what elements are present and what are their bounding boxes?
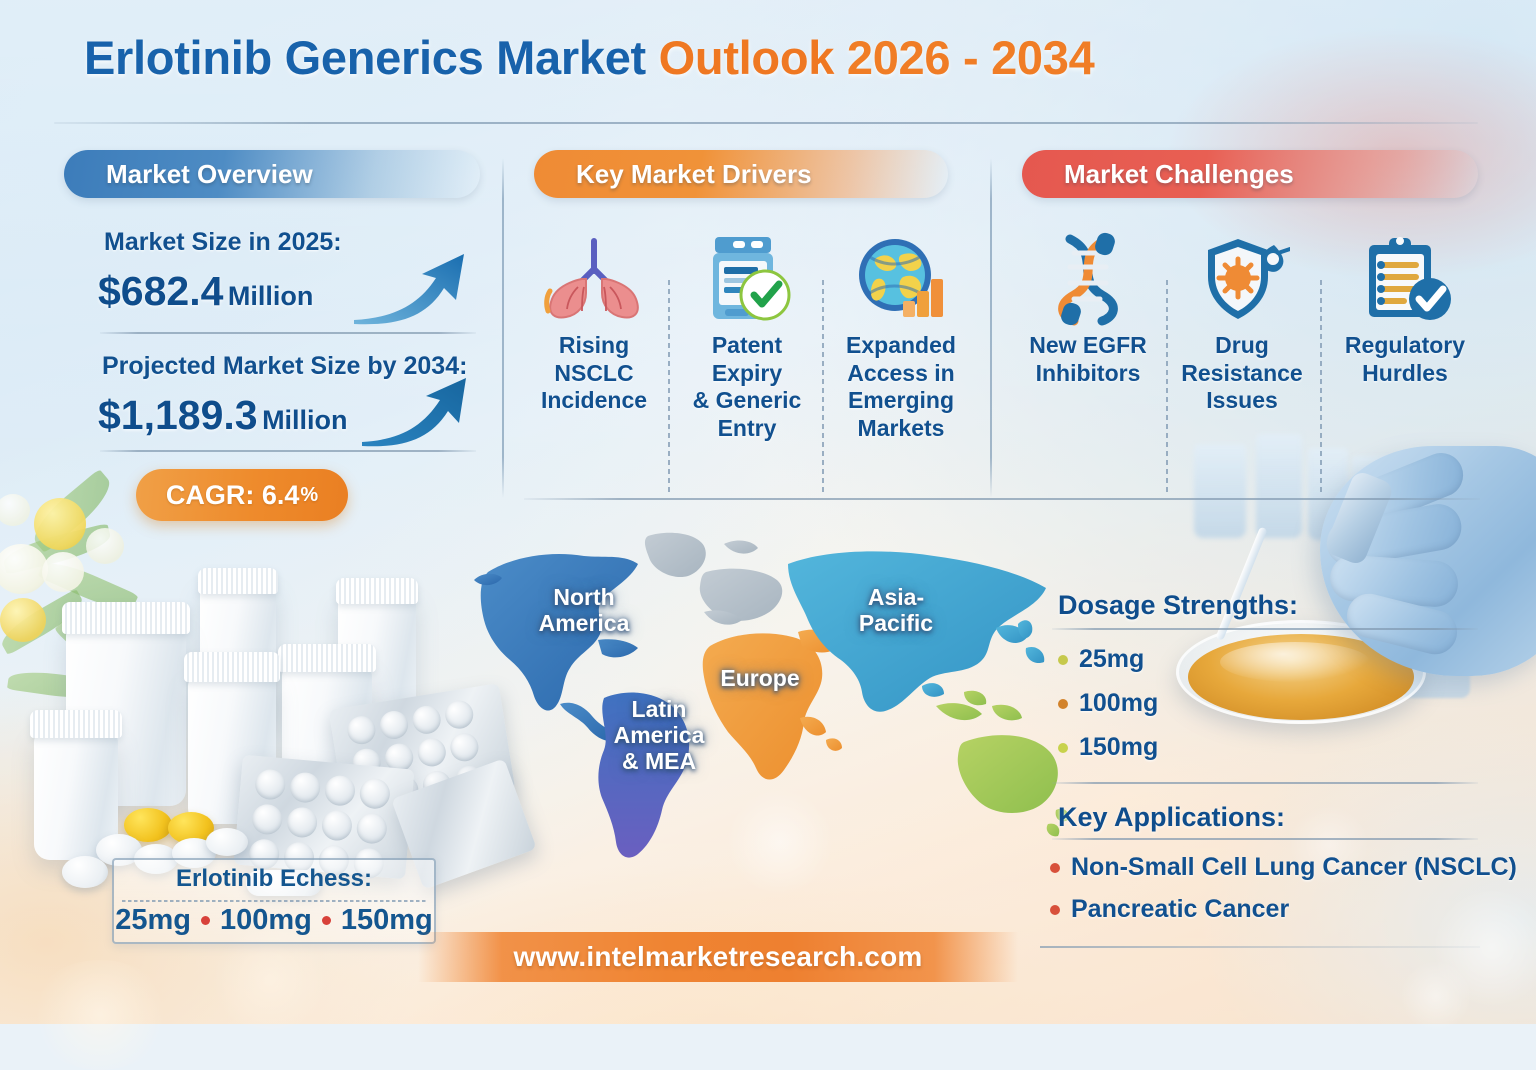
- market-size-label: Market Size in 2025:: [104, 228, 342, 257]
- market-size-unit: Million: [228, 281, 313, 311]
- cagr-label: CAGR: 6.4: [166, 480, 300, 511]
- dosage-item-1: 25mg: [1058, 645, 1144, 674]
- footer-url-banner[interactable]: www.intelmarketresearch.com: [418, 932, 1018, 982]
- driver-label-3-line4: Markets: [832, 415, 970, 443]
- applications-divider: [1052, 838, 1478, 840]
- driver-label-3-line2: Access in: [832, 360, 970, 388]
- projected-size-value-row: $1,189.3 Million: [98, 392, 348, 439]
- application-item-2: Pancreatic Cancer: [1050, 895, 1289, 924]
- map-label-europe-line1: Europe: [714, 666, 806, 692]
- dosage-divider-bottom: [1052, 782, 1478, 784]
- erlotinib-dosage-card-divider: [122, 900, 426, 902]
- driver-divider-1: [668, 280, 670, 492]
- map-label-latin-america-mea: Latin America & MEA: [604, 697, 714, 774]
- dosage-label-2: 100mg: [1079, 689, 1158, 718]
- challenge-label-2: Drug Resistance Issues: [1176, 332, 1308, 415]
- shield-virus-icon: [1176, 226, 1308, 332]
- erlotinib-dosage-card: Erlotinib Echess: 25mg 100mg 150mg: [112, 858, 436, 944]
- driver-label-3-line3: Emerging: [832, 387, 970, 415]
- header-divider: [54, 122, 1478, 124]
- driver-label-1-line1: Rising: [528, 332, 660, 360]
- overview-divider-2: [100, 450, 476, 452]
- dosage-bullet-2: [1058, 699, 1068, 709]
- growth-arrow-icon-1: [352, 248, 472, 326]
- globe-chart-icon: [832, 226, 970, 332]
- challenge-label-3-line2: Hurdles: [1330, 360, 1480, 388]
- projected-size-unit: Million: [262, 405, 347, 435]
- driver-column-patent-expiry-generic-entry: Patent Expiry & Generic Entry: [678, 226, 816, 442]
- erlotinib-dosage-card-values: 25mg 100mg 150mg: [114, 904, 434, 937]
- driver-label-3: Expanded Access in Emerging Markets: [832, 332, 970, 442]
- map-label-asia-pacific: Asia- Pacific: [850, 585, 942, 637]
- panels-bottom-divider: [524, 498, 1480, 500]
- erlotinib-dosage-card-title: Erlotinib Echess:: [114, 865, 434, 893]
- dosage-label-3: 150mg: [1079, 733, 1158, 762]
- title-part-1: Erlotinib Generics Market: [84, 31, 659, 84]
- challenge-label-1-line2: Inhibitors: [1018, 360, 1158, 388]
- market-overview-heading: Market Overview: [106, 159, 313, 190]
- market-size-value-row: $682.4 Million: [98, 268, 313, 315]
- challenge-label-2-line1: Drug: [1176, 332, 1308, 360]
- dosage-divider-top: [1052, 628, 1478, 630]
- clipboard-check-icon: [1330, 226, 1480, 332]
- map-label-latin-america-mea-line2: America: [604, 723, 714, 749]
- map-label-north-america: North America: [536, 585, 632, 637]
- challenge-column-new-egfr-inhibitors: New EGFR Inhibitors: [1018, 226, 1158, 387]
- footer-url[interactable]: www.intelmarketresearch.com: [514, 941, 923, 973]
- dosage-strengths-heading: Dosage Strengths:: [1058, 590, 1298, 621]
- section-header-market-challenges: Market Challenges: [1022, 150, 1478, 198]
- challenge-label-1-line1: New EGFR: [1018, 332, 1158, 360]
- panel-divider-right: [990, 158, 992, 498]
- driver-label-1-line3: Incidence: [528, 387, 660, 415]
- overview-divider-1: [100, 332, 476, 334]
- challenge-column-regulatory-hurdles: Regulatory Hurdles: [1330, 226, 1480, 387]
- driver-label-2-line3: Entry: [678, 415, 816, 443]
- driver-column-expanded-access-emerging-markets: Expanded Access in Emerging Markets: [832, 226, 970, 442]
- map-label-asia-pacific-line1: Asia-: [850, 585, 942, 611]
- cagr-badge: CAGR: 6.4 %: [136, 469, 348, 521]
- map-label-north-america-line1: North: [536, 585, 632, 611]
- driver-label-2: Patent Expiry & Generic Entry: [678, 332, 816, 442]
- dosage-card-separator-2: [322, 916, 331, 925]
- growth-arrow-icon-2: [360, 374, 474, 448]
- application-label-1: Non-Small Cell Lung Cancer (NSCLC): [1071, 853, 1517, 882]
- challenge-label-1: New EGFR Inhibitors: [1018, 332, 1158, 387]
- application-bullet-2: [1050, 905, 1060, 915]
- driver-label-2-line1: Patent Expiry: [678, 332, 816, 387]
- application-label-2: Pancreatic Cancer: [1071, 895, 1289, 924]
- driver-column-rising-nsclc-incidence: Rising NSCLC Incidence: [528, 226, 660, 415]
- dosage-card-value-2: 100mg: [220, 904, 312, 937]
- challenge-label-3-line1: Regulatory: [1330, 332, 1480, 360]
- cagr-percent-symbol: %: [300, 484, 318, 507]
- map-label-europe: Europe: [714, 666, 806, 692]
- driver-label-2-line2: & Generic: [678, 387, 816, 415]
- challenge-divider-1: [1166, 280, 1168, 492]
- driver-label-1-line2: NSCLC: [528, 360, 660, 388]
- projected-size-value: $1,189.3: [98, 392, 258, 438]
- dosage-card-separator-1: [201, 916, 210, 925]
- drivers-heading: Key Market Drivers: [576, 159, 812, 190]
- dosage-item-3: 150mg: [1058, 733, 1158, 762]
- section-header-key-market-drivers: Key Market Drivers: [534, 150, 948, 198]
- key-applications-heading: Key Applications:: [1058, 802, 1285, 833]
- dosage-item-2: 100mg: [1058, 689, 1158, 718]
- driver-divider-2: [822, 280, 824, 492]
- application-bullet-1: [1050, 863, 1060, 873]
- map-label-asia-pacific-line2: Pacific: [850, 611, 942, 637]
- map-label-north-america-line2: America: [536, 611, 632, 637]
- dosage-label-1: 25mg: [1079, 645, 1144, 674]
- page-title: Erlotinib Generics Market Outlook 2026 -…: [84, 30, 1094, 85]
- dna-helix-icon: [1018, 226, 1158, 332]
- challenge-label-2-line2: Resistance: [1176, 360, 1308, 388]
- pill-bottle-check-icon: [678, 226, 816, 332]
- footer-divider-right: [1040, 946, 1480, 948]
- challenge-label-2-line3: Issues: [1176, 387, 1308, 415]
- challenges-heading: Market Challenges: [1064, 159, 1294, 190]
- challenge-label-3: Regulatory Hurdles: [1330, 332, 1480, 387]
- world-map: [452, 528, 1072, 878]
- title-part-3: 2026 - 2034: [847, 31, 1095, 84]
- challenge-divider-2: [1320, 280, 1322, 492]
- challenge-column-drug-resistance-issues: Drug Resistance Issues: [1176, 226, 1308, 415]
- dosage-bullet-3: [1058, 743, 1068, 753]
- market-size-value: $682.4: [98, 268, 223, 314]
- driver-label-3-line1: Expanded: [832, 332, 970, 360]
- section-header-market-overview: Market Overview: [64, 150, 480, 198]
- map-label-latin-america-mea-line1: Latin: [604, 697, 714, 723]
- map-label-latin-america-mea-line3: & MEA: [604, 749, 714, 775]
- dosage-card-value-1: 25mg: [115, 904, 191, 937]
- lungs-icon: [528, 226, 660, 332]
- application-item-1: Non-Small Cell Lung Cancer (NSCLC): [1050, 853, 1517, 882]
- panel-divider-left: [502, 158, 504, 498]
- driver-label-1: Rising NSCLC Incidence: [528, 332, 660, 415]
- title-part-2: Outlook: [659, 31, 847, 84]
- dosage-bullet-1: [1058, 655, 1068, 665]
